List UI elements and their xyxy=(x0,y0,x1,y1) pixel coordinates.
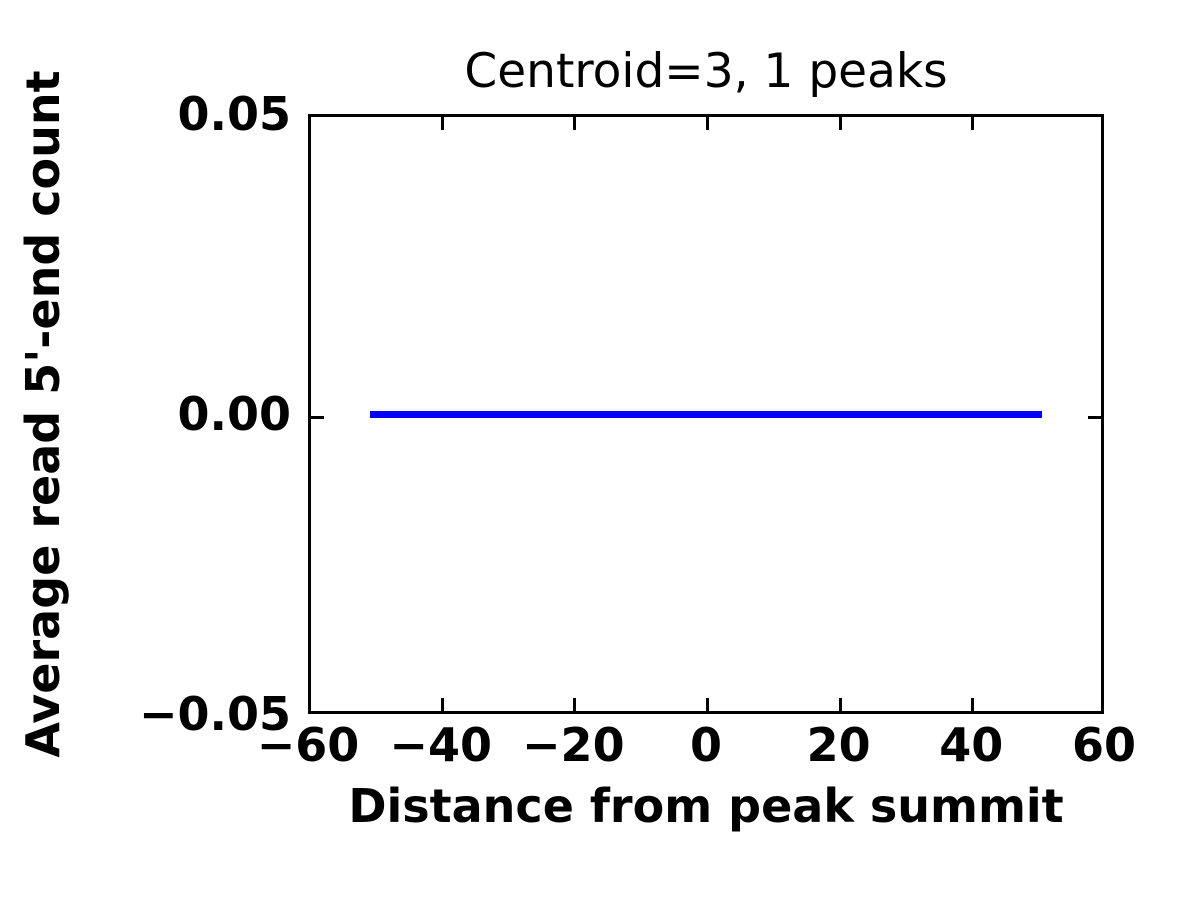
y-tick-mark-right-1 xyxy=(1088,416,1101,419)
figure-canvas: Centroid=3, 1 peaks Average read 5'-end … xyxy=(0,0,1200,900)
x-tick-mark-top-2 xyxy=(573,117,576,130)
x-axis-label: Distance from peak summit xyxy=(308,783,1104,829)
plot-area xyxy=(308,114,1104,714)
x-tick-mark-1 xyxy=(441,698,444,711)
x-tick-mark-top-4 xyxy=(839,117,842,130)
x-tick-mark-top-3 xyxy=(706,117,709,130)
y-tick-label-1: 0.00 xyxy=(178,391,292,437)
chart-title: Centroid=3, 1 peaks xyxy=(308,48,1104,95)
x-tick-mark-4 xyxy=(839,698,842,711)
x-tick-mark-5 xyxy=(971,698,974,711)
x-tick-mark-2 xyxy=(573,698,576,711)
series-line-average-read-5end-count xyxy=(370,411,1042,418)
y-tick-mark-1 xyxy=(311,416,324,419)
y-axis-label-container: Average read 5'-end count xyxy=(0,114,86,714)
x-tick-label-3: 0 xyxy=(690,722,722,768)
x-tick-label-0: −60 xyxy=(257,722,360,768)
x-tick-label-4: 20 xyxy=(807,722,871,768)
y-tick-label-0: 0.05 xyxy=(178,91,292,137)
x-tick-label-1: −40 xyxy=(389,722,492,768)
y-axis-label: Average read 5'-end count xyxy=(20,70,66,757)
x-tick-mark-top-1 xyxy=(441,117,444,130)
x-tick-label-5: 40 xyxy=(939,722,1003,768)
x-tick-label-2: −20 xyxy=(522,722,625,768)
x-tick-mark-3 xyxy=(706,698,709,711)
x-tick-mark-top-5 xyxy=(971,117,974,130)
x-tick-label-6: 60 xyxy=(1072,722,1136,768)
